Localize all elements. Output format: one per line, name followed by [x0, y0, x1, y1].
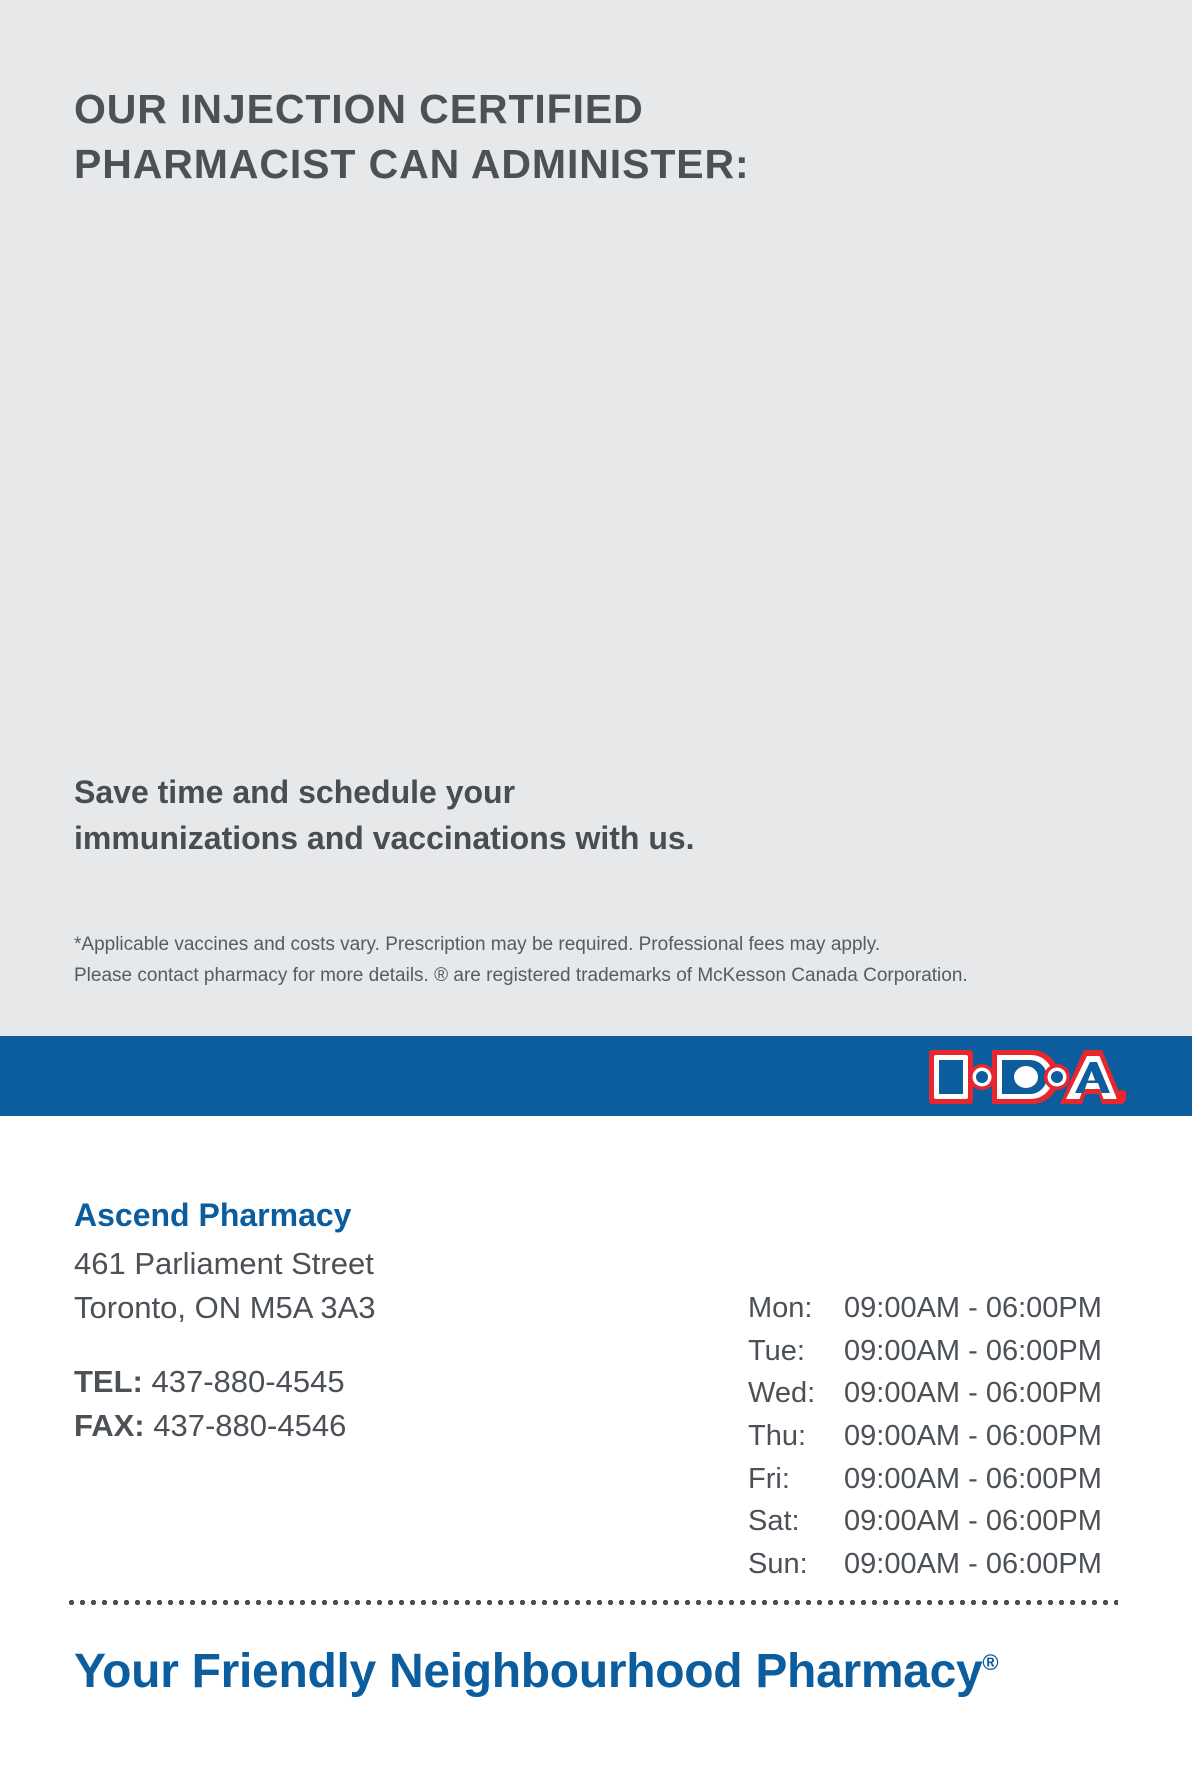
store-address-line-1: 461 Parliament Street [74, 1242, 634, 1286]
fax-value: 437-880-4546 [153, 1408, 346, 1443]
subheading: Save time and schedule your immunization… [74, 769, 974, 862]
top-gray-panel: OUR INJECTION CERTIFIED PHARMACIST CAN A… [0, 0, 1192, 1036]
hours-time: 09:00AM - 06:00PM [844, 1290, 1102, 1328]
vaccine-illustration-area [74, 250, 1118, 650]
hours-time: 09:00AM - 06:00PM [844, 1375, 1102, 1413]
subheading-line-2: immunizations and vaccinations with us. [74, 815, 974, 861]
hours-row: Sat: 09:00AM - 06:00PM [748, 1503, 1148, 1541]
fax-row: FAX: 437-880-4546 [74, 1404, 634, 1447]
hours-day: Wed: [748, 1375, 844, 1413]
hours-time: 09:00AM - 06:00PM [844, 1333, 1102, 1371]
registered-trademark-icon: ® [982, 1650, 998, 1675]
hours-row: Sun: 09:00AM - 06:00PM [748, 1546, 1148, 1584]
hours-day: Sun: [748, 1546, 844, 1584]
hours-row: Thu: 09:00AM - 06:00PM [748, 1418, 1148, 1456]
disclaimer-text: *Applicable vaccines and costs vary. Pre… [74, 930, 1134, 992]
store-info: Ascend Pharmacy 461 Parliament Street To… [74, 1196, 634, 1447]
hours-time: 09:00AM - 06:00PM [844, 1503, 1102, 1541]
hours-day: Fri: [748, 1461, 844, 1499]
hours-day: Tue: [748, 1333, 844, 1371]
tagline-text: Your Friendly Neighbourhood Pharmacy [74, 1645, 982, 1698]
hours-day: Thu: [748, 1418, 844, 1456]
pharmacy-flyer: OUR INJECTION CERTIFIED PHARMACIST CAN A… [0, 0, 1192, 1785]
hours-time: 09:00AM - 06:00PM [844, 1418, 1102, 1456]
hours-time: 09:00AM - 06:00PM [844, 1461, 1102, 1499]
subheading-line-1: Save time and schedule your [74, 769, 974, 815]
telephone-row: TEL: 437-880-4545 [74, 1360, 634, 1403]
disclaimer-line-1: *Applicable vaccines and costs vary. Pre… [74, 930, 1134, 961]
hours-time: 09:00AM - 06:00PM [844, 1546, 1102, 1584]
page-title-line-2: PHARMACIST CAN ADMINISTER: [74, 137, 974, 192]
hours-day: Mon: [748, 1290, 844, 1328]
hours-row: Wed: 09:00AM - 06:00PM [748, 1375, 1148, 1413]
telephone-label: TEL: [74, 1364, 143, 1399]
telephone-value[interactable]: 437-880-4545 [152, 1364, 345, 1399]
store-name: Ascend Pharmacy [74, 1196, 634, 1234]
page-title-line-1: OUR INJECTION CERTIFIED [74, 82, 974, 137]
ida-logo [926, 1046, 1126, 1108]
store-address-line-2: Toronto, ON M5A 3A3 [74, 1286, 634, 1330]
hours-row: Mon: 09:00AM - 06:00PM [748, 1290, 1148, 1328]
page-title: OUR INJECTION CERTIFIED PHARMACIST CAN A… [74, 82, 974, 191]
store-contact: TEL: 437-880-4545 FAX: 437-880-4546 [74, 1360, 634, 1447]
disclaimer-line-2: Please contact pharmacy for more details… [74, 961, 1134, 992]
hours-day: Sat: [748, 1503, 844, 1541]
tagline: Your Friendly Neighbourhood Pharmacy® [74, 1644, 998, 1699]
dotted-divider [66, 1599, 1118, 1606]
hours-row: Tue: 09:00AM - 06:00PM [748, 1333, 1148, 1371]
fax-label: FAX: [74, 1408, 145, 1443]
store-hours: Mon: 09:00AM - 06:00PM Tue: 09:00AM - 06… [748, 1290, 1148, 1589]
hours-row: Fri: 09:00AM - 06:00PM [748, 1461, 1148, 1499]
